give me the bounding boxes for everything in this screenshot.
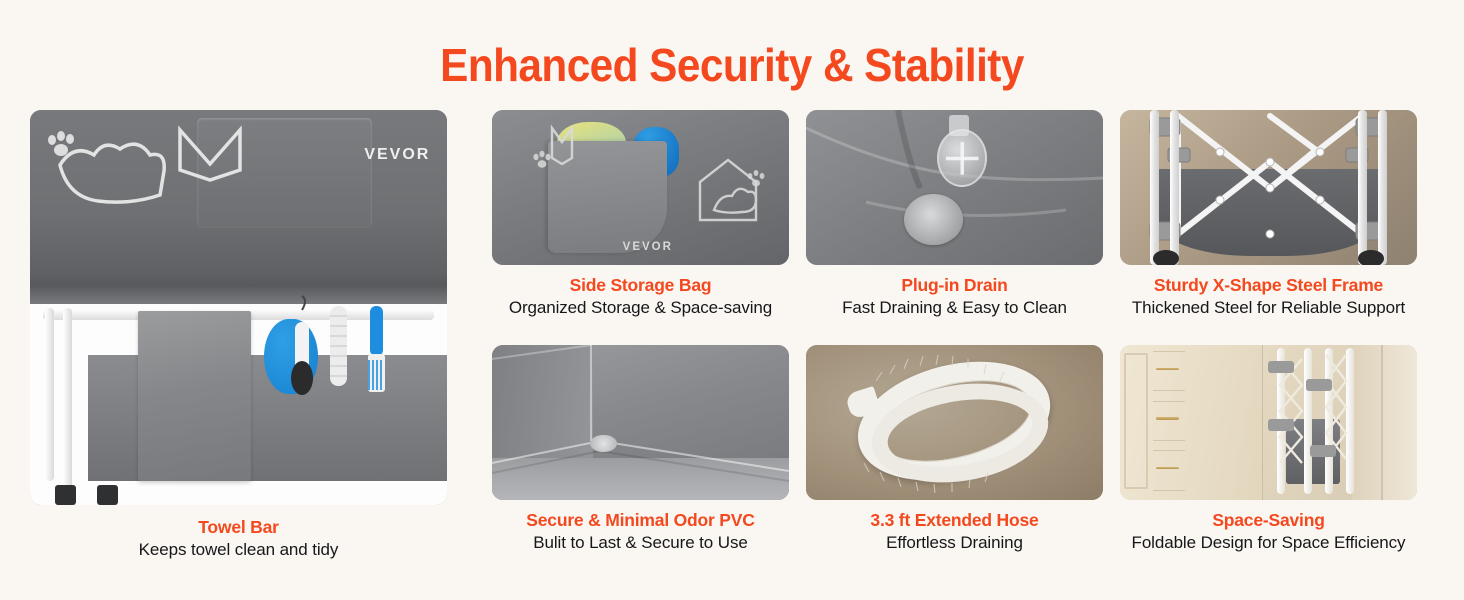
- towel-bar-caption: Towel Bar Keeps towel clean and tidy: [30, 516, 447, 561]
- extended-hose-headline: 3.3 ft Extended Hose: [806, 509, 1103, 531]
- towel-bar-photo: VEVOR: [30, 110, 447, 505]
- towel-bar-subtext: Keeps towel clean and tidy: [30, 538, 447, 561]
- hose-illustration: [806, 345, 1103, 500]
- steel-frame-subtext: Thickened Steel for Reliable Support: [1120, 296, 1417, 319]
- feature-card-pvc-material: Secure & Minimal Odor PVC Bulit to Last …: [492, 345, 789, 554]
- welded-seam-lines: [492, 345, 789, 500]
- x-frame-illustration: [1120, 110, 1417, 265]
- feature-card-space-saving: Space-Saving Foldable Design for Space E…: [1120, 345, 1417, 554]
- scissor-linkage-icon: [1120, 110, 1417, 265]
- steel-frame-caption: Sturdy X-Shape Steel Frame Thickened Ste…: [1120, 274, 1417, 319]
- feature-grid: VEVOR: [0, 110, 1464, 600]
- folded-frame-linkage: [1120, 345, 1417, 500]
- drain-fitting: [590, 435, 617, 452]
- side-storage-bag-caption: Side Storage Bag Organized Storage & Spa…: [492, 274, 789, 319]
- feature-card-plug-in-drain: Plug-in Drain Fast Draining & Easy to Cl…: [806, 110, 1103, 319]
- page-title: Enhanced Security & Stability: [59, 38, 1406, 92]
- hanging-tools-illustration: [30, 110, 447, 505]
- pvc-material-photo: [492, 345, 789, 500]
- extended-hose-photo: [806, 345, 1103, 500]
- drain-illustration: [806, 110, 1103, 265]
- pvc-material-caption: Secure & Minimal Odor PVC Bulit to Last …: [492, 509, 789, 554]
- folded-storage-illustration: [1120, 345, 1417, 500]
- extended-hose-subtext: Effortless Draining: [806, 531, 1103, 554]
- space-saving-caption: Space-Saving Foldable Design for Space E…: [1120, 509, 1417, 554]
- plug-in-drain-headline: Plug-in Drain: [806, 274, 1103, 296]
- plug-in-drain-photo: [806, 110, 1103, 265]
- pvc-corner-illustration: [492, 345, 789, 500]
- plug-in-drain-subtext: Fast Draining & Easy to Clean: [806, 296, 1103, 319]
- feature-card-side-storage-bag: VEVOR Side Storage Bag Organized Storage…: [492, 110, 789, 319]
- feature-card-towel-bar: VEVOR: [30, 110, 447, 561]
- steel-frame-photo: [1120, 110, 1417, 265]
- side-storage-bag-subtext: Organized Storage & Space-saving: [492, 296, 789, 319]
- hose-corrugations: [806, 345, 1103, 500]
- space-saving-headline: Space-Saving: [1120, 509, 1417, 531]
- pet-bathtub-illustration: VEVOR: [30, 110, 447, 505]
- space-saving-subtext: Foldable Design for Space Efficiency: [1120, 531, 1417, 554]
- side-storage-bag-photo: VEVOR: [492, 110, 789, 265]
- plug-in-drain-caption: Plug-in Drain Fast Draining & Easy to Cl…: [806, 274, 1103, 319]
- steel-frame-headline: Sturdy X-Shape Steel Frame: [1120, 274, 1417, 296]
- drain-cap: [937, 129, 987, 188]
- side-storage-bag-headline: Side Storage Bag: [492, 274, 789, 296]
- towel-bar-headline: Towel Bar: [30, 516, 447, 538]
- drain-opening: [904, 194, 963, 245]
- storage-bag-illustration: VEVOR: [492, 110, 789, 265]
- space-saving-photo: [1120, 345, 1417, 500]
- pvc-material-subtext: Bulit to Last & Secure to Use: [492, 531, 789, 554]
- feature-card-extended-hose: 3.3 ft Extended Hose Effortless Draining: [806, 345, 1103, 554]
- pvc-material-headline: Secure & Minimal Odor PVC: [492, 509, 789, 531]
- brand-mark: VEVOR: [623, 241, 673, 253]
- feature-card-steel-frame: Sturdy X-Shape Steel Frame Thickened Ste…: [1120, 110, 1417, 319]
- extended-hose-caption: 3.3 ft Extended Hose Effortless Draining: [806, 509, 1103, 554]
